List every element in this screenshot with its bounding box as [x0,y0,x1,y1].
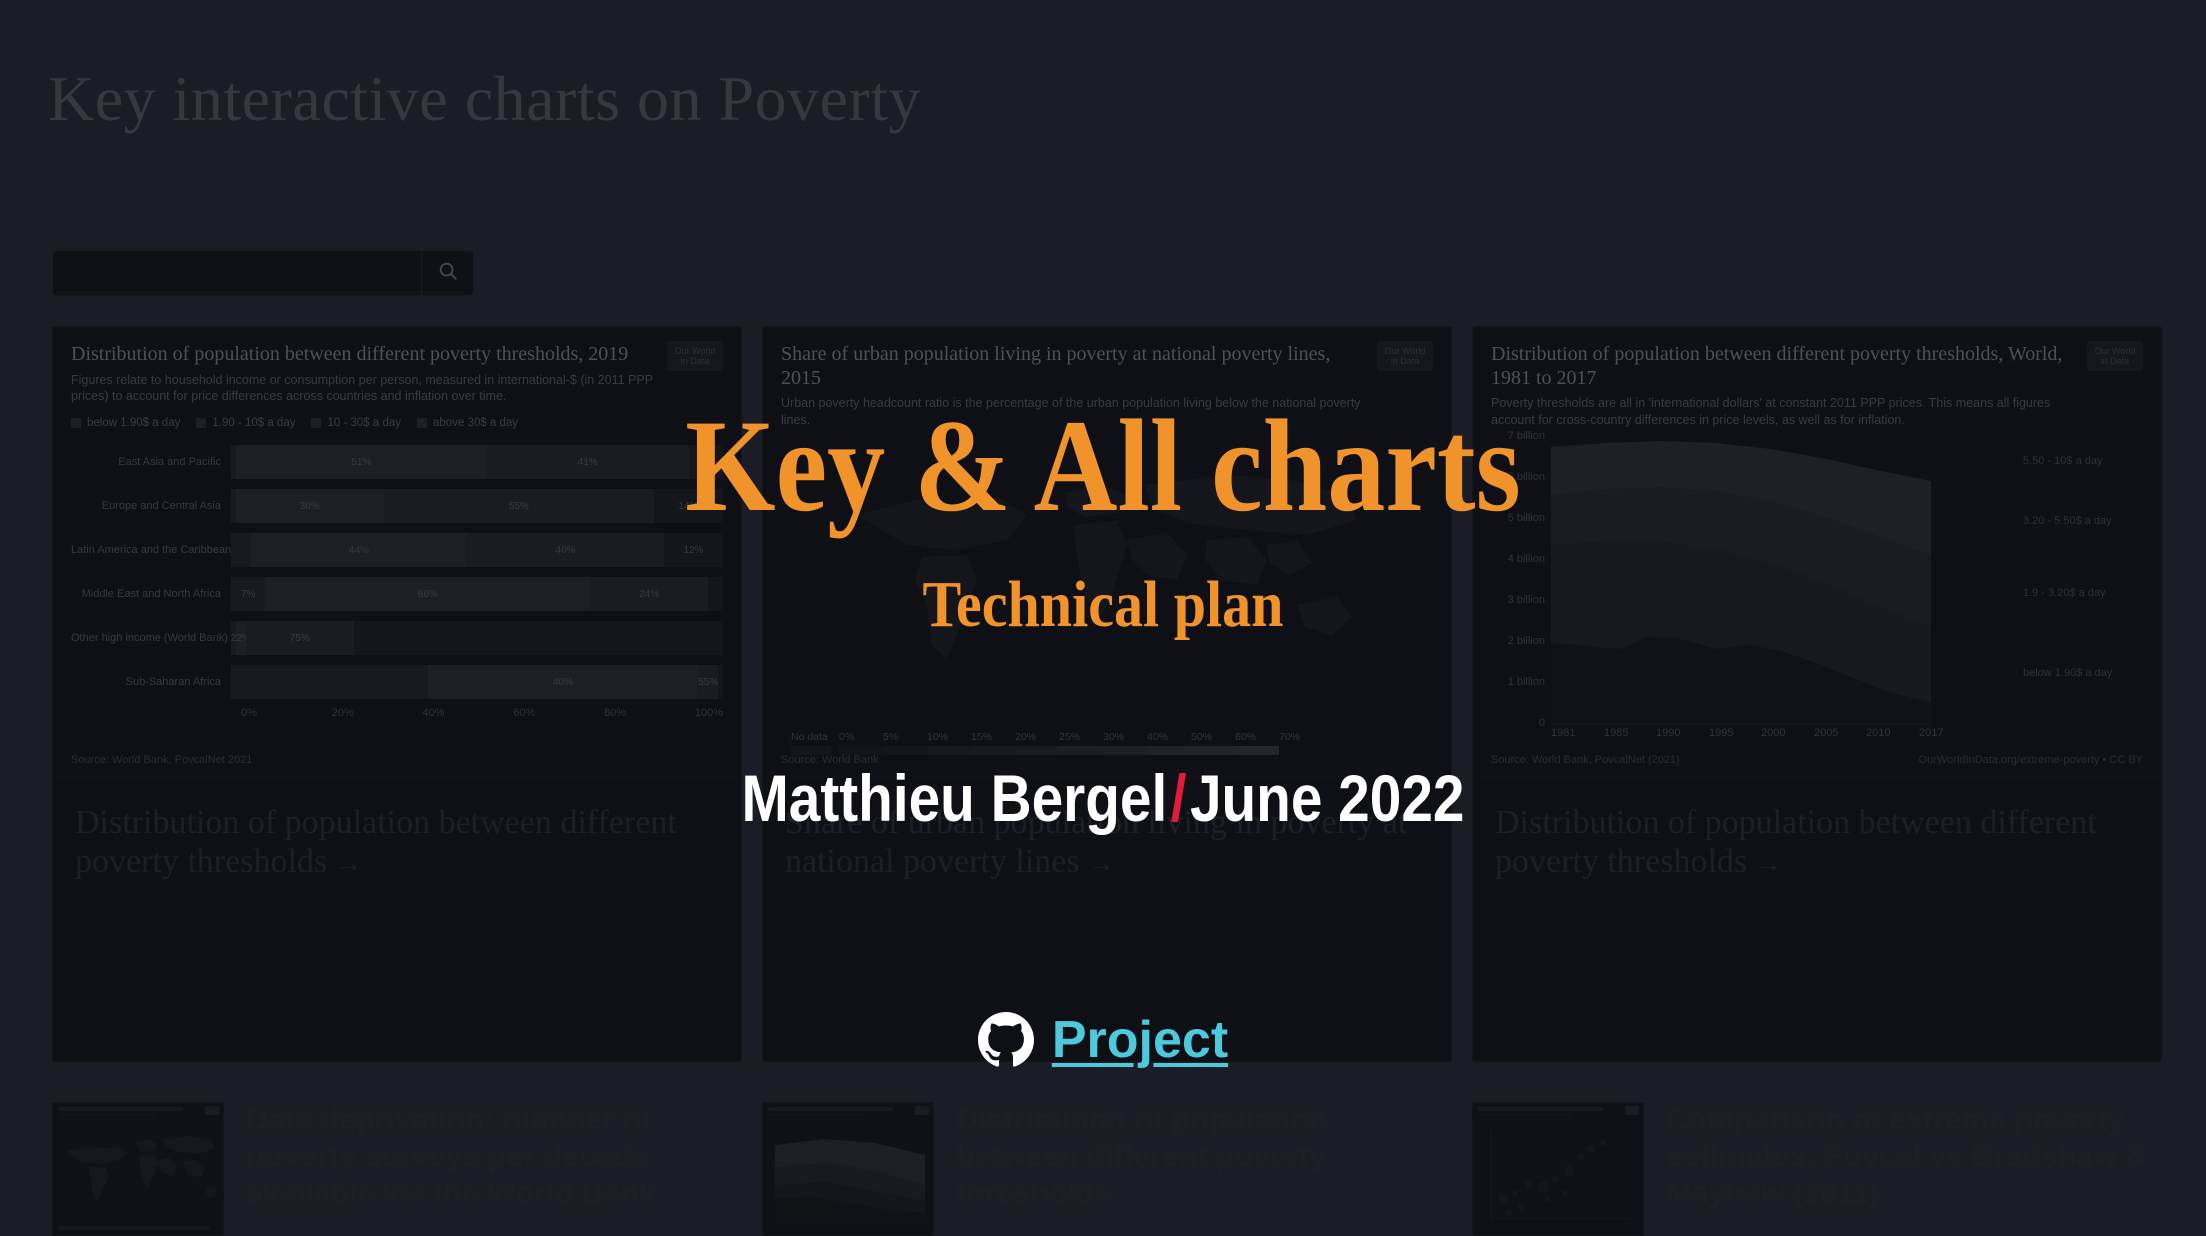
author-name: Matthieu Bergel [742,761,1168,835]
byline-separator: / [1167,761,1190,835]
presentation-date: June 2022 [1190,761,1465,835]
github-icon [978,1012,1034,1068]
title-overlay: Key & All charts Technical plan Matthieu… [0,0,2206,1236]
project-link-row[interactable]: Project [0,1010,2206,1070]
presentation-byline: Matthieu Bergel/June 2022 [154,765,2051,831]
presentation-subtitle: Technical plan [132,572,2073,638]
project-link[interactable]: Project [1052,1010,1228,1070]
presentation-title: Key & All charts [132,400,2073,532]
